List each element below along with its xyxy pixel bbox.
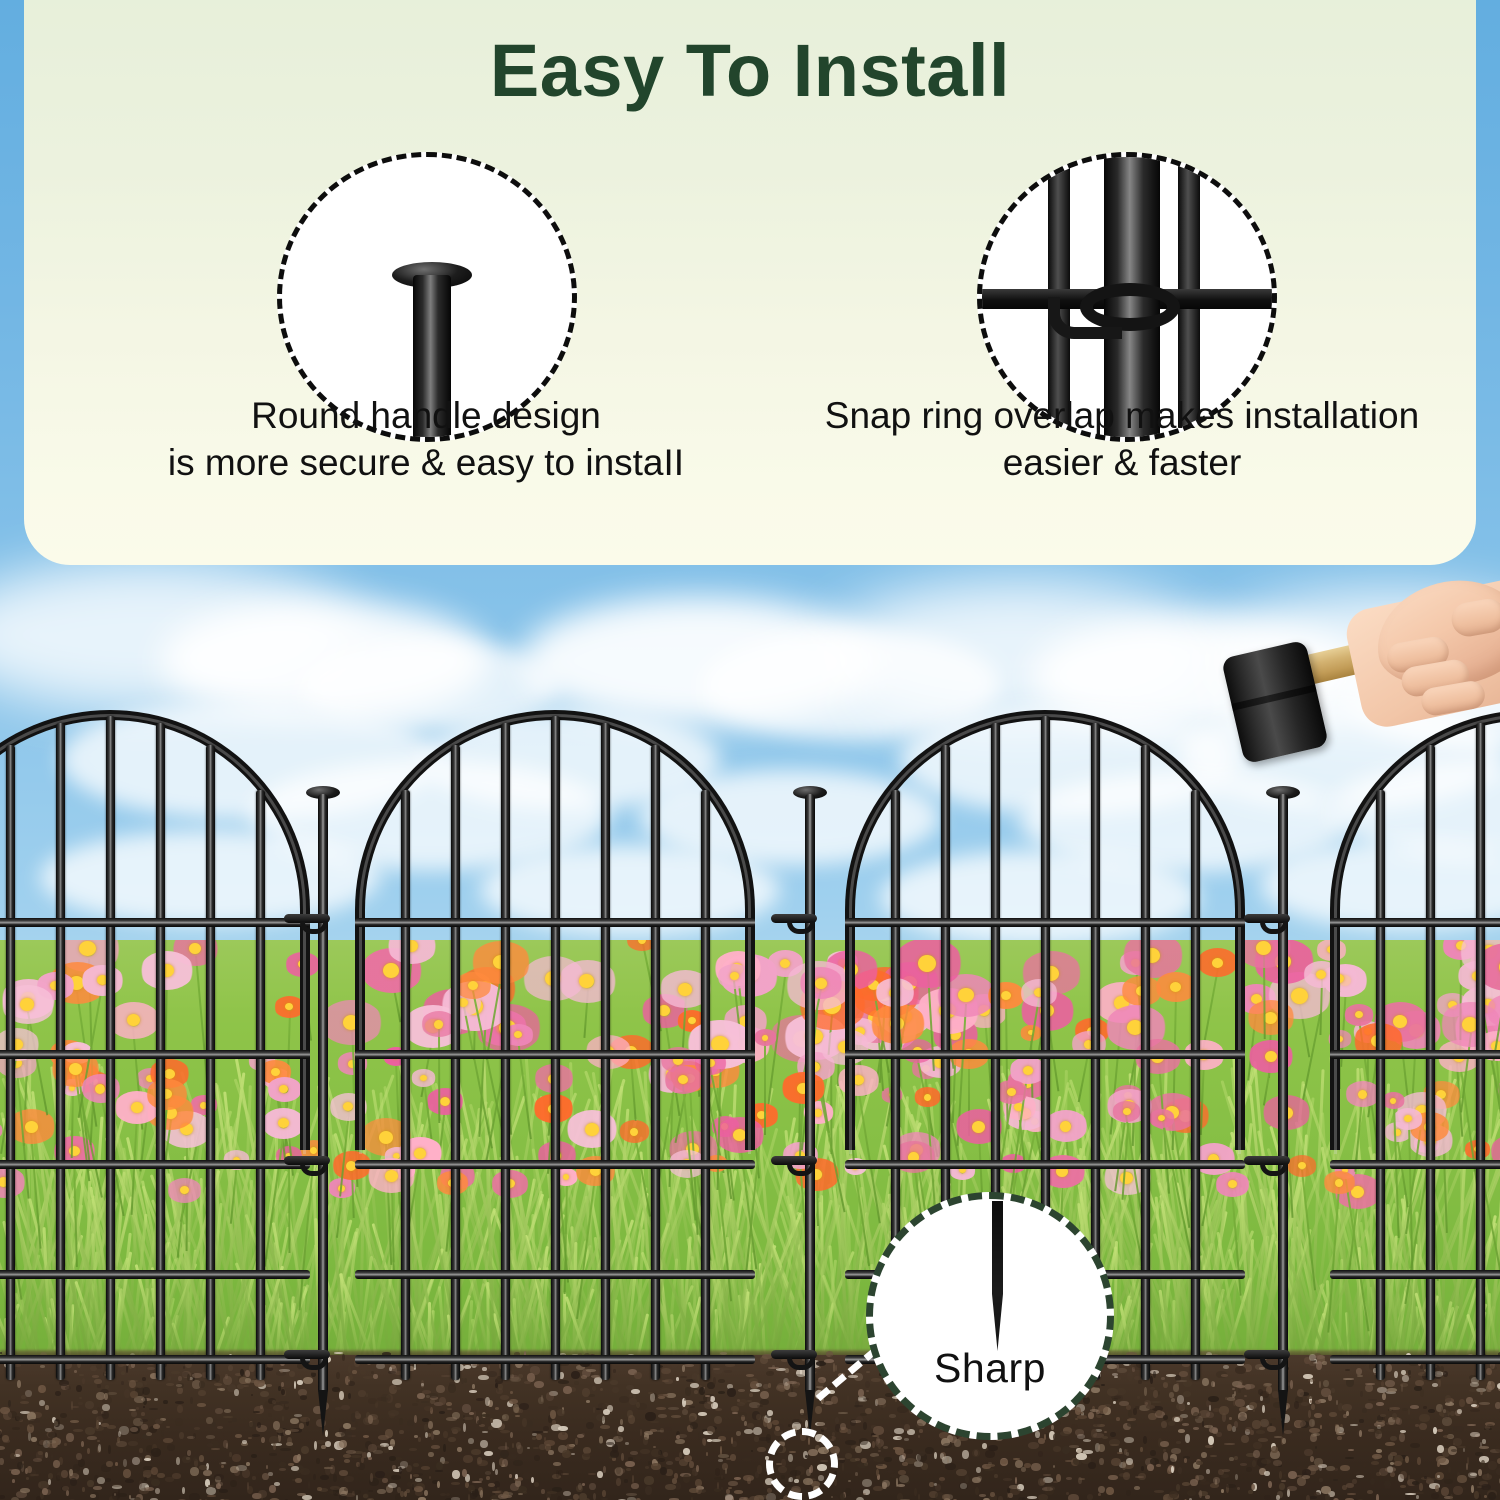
soil-crumb xyxy=(64,1443,67,1446)
garden-fence xyxy=(0,690,1500,1390)
soil-crumb xyxy=(718,1459,723,1462)
soil-crumb xyxy=(1261,1459,1271,1464)
soil-crumb xyxy=(268,1413,272,1417)
soil-crumb xyxy=(1015,1477,1017,1484)
soil-crumb xyxy=(207,1443,213,1447)
soil-crumb xyxy=(413,1474,419,1477)
soil-crumb xyxy=(163,1400,168,1404)
soil-crumb xyxy=(698,1489,706,1493)
soil-crumb xyxy=(640,1449,650,1454)
soil-crumb xyxy=(279,1401,289,1404)
soil-crumb xyxy=(1071,1439,1075,1444)
soil-crumb xyxy=(112,1492,120,1500)
soil-crumb xyxy=(199,1465,207,1470)
soil-crumb xyxy=(1235,1474,1238,1480)
soil-crumb xyxy=(929,1482,934,1487)
soil-crumb xyxy=(451,1427,461,1432)
soil-crumb xyxy=(1484,1495,1487,1498)
soil-crumb xyxy=(439,1397,446,1405)
fence-panel xyxy=(0,690,310,1380)
soil-crumb xyxy=(391,1475,401,1480)
soil-crumb xyxy=(1307,1396,1313,1399)
soil-crumb xyxy=(70,1478,77,1486)
soil-crumb xyxy=(1017,1489,1021,1491)
soil-crumb xyxy=(115,1462,118,1466)
soil-crumb xyxy=(1347,1493,1356,1495)
soil-crumb xyxy=(624,1479,628,1483)
soil-crumb xyxy=(1133,1408,1137,1415)
soil-crumb xyxy=(902,1462,908,1466)
soil-crumb xyxy=(1098,1405,1108,1414)
soil-crumb xyxy=(341,1431,352,1439)
soil-crumb xyxy=(1190,1479,1198,1486)
fence-horizontal-rail xyxy=(0,1160,310,1169)
soil-crumb xyxy=(485,1471,491,1475)
soil-crumb xyxy=(1116,1417,1120,1421)
soil-crumb xyxy=(395,1403,401,1408)
soil-crumb xyxy=(658,1396,665,1399)
soil-crumb xyxy=(1051,1425,1054,1430)
soil-crumb xyxy=(1302,1475,1310,1479)
soil-crumb xyxy=(596,1414,606,1421)
soil-crumb xyxy=(541,1489,545,1494)
soil-crumb xyxy=(855,1472,858,1476)
soil-crumb xyxy=(206,1435,215,1439)
soil-crumb xyxy=(246,1462,250,1466)
soil-crumb xyxy=(658,1458,665,1462)
soil-crumb xyxy=(690,1406,695,1408)
fence-panel xyxy=(1330,690,1500,1380)
soil-crumb xyxy=(1227,1424,1232,1431)
soil-crumb xyxy=(606,1442,614,1445)
buried-tip-marker-icon xyxy=(766,1428,838,1500)
soil-crumb xyxy=(211,1448,220,1450)
soil-crumb xyxy=(1459,1399,1465,1407)
soil-crumb xyxy=(282,1416,284,1421)
soil-crumb xyxy=(1202,1421,1204,1427)
soil-crumb xyxy=(163,1438,173,1443)
soil-crumb xyxy=(350,1427,356,1430)
soil-crumb xyxy=(451,1482,460,1485)
soil-crumb xyxy=(757,1447,766,1452)
soil-crumb xyxy=(1158,1391,1160,1395)
soil-crumb xyxy=(536,1434,542,1440)
soil-crumb xyxy=(863,1422,867,1430)
soil-crumb xyxy=(1258,1438,1268,1442)
soil-crumb xyxy=(631,1483,639,1489)
soil-crumb xyxy=(503,1491,509,1498)
soil-crumb xyxy=(1035,1431,1040,1438)
soil-crumb xyxy=(1442,1417,1452,1426)
soil-crumb xyxy=(593,1493,596,1500)
soil-crumb xyxy=(1182,1482,1190,1486)
soil-crumb xyxy=(129,1409,136,1411)
soil-crumb xyxy=(1227,1397,1235,1401)
soil-crumb xyxy=(251,1454,257,1458)
soil-crumb xyxy=(107,1392,117,1395)
soil-crumb xyxy=(835,1417,839,1424)
soil-crumb xyxy=(319,1488,328,1492)
soil-crumb xyxy=(273,1405,283,1411)
soil-crumb xyxy=(1176,1441,1181,1444)
soil-crumb xyxy=(179,1432,184,1439)
soil-crumb xyxy=(1205,1445,1213,1448)
soil-crumb xyxy=(737,1399,740,1402)
soil-crumb xyxy=(457,1447,462,1452)
soil-crumb xyxy=(677,1434,687,1438)
soil-crumb xyxy=(345,1493,355,1497)
soil-crumb xyxy=(547,1491,557,1494)
soil-crumb xyxy=(261,1492,263,1500)
soil-crumb xyxy=(656,1430,664,1432)
soil-crumb xyxy=(845,1453,852,1459)
soil-crumb xyxy=(1482,1439,1486,1444)
soil-crumb xyxy=(644,1431,653,1435)
soil-crumb xyxy=(1390,1407,1400,1410)
soil-crumb xyxy=(102,1404,110,1411)
soil-crumb xyxy=(71,1406,79,1408)
soil-crumb xyxy=(368,1490,373,1492)
soil-crumb xyxy=(666,1461,673,1465)
soil-crumb xyxy=(1143,1436,1147,1444)
fence-horizontal-rail xyxy=(1330,1355,1500,1364)
soil-crumb xyxy=(1474,1491,1479,1499)
soil-crumb xyxy=(976,1467,981,1473)
soil-crumb xyxy=(55,1391,61,1396)
caption-line-2: easier & faster xyxy=(742,439,1476,486)
soil-crumb xyxy=(1448,1466,1451,1473)
soil-crumb xyxy=(532,1431,543,1433)
soil-crumb xyxy=(598,1403,606,1410)
snap-ring-clip xyxy=(284,1154,330,1176)
soil-crumb xyxy=(1248,1490,1253,1494)
soil-crumb xyxy=(10,1453,16,1459)
soil-crumb xyxy=(721,1475,723,1479)
soil-crumb xyxy=(534,1482,539,1487)
soil-crumb xyxy=(702,1438,706,1445)
soil-crumb xyxy=(648,1461,651,1465)
soil-crumb xyxy=(42,1488,48,1495)
soil-crumb xyxy=(935,1484,941,1491)
soil-crumb xyxy=(562,1450,571,1458)
soil-crumb xyxy=(1495,1445,1500,1452)
soil-crumb xyxy=(1457,1475,1467,1483)
soil-crumb xyxy=(97,1477,105,1484)
soil-crumb xyxy=(125,1479,134,1483)
soil-crumb xyxy=(822,1400,826,1403)
fence-horizontal-rail xyxy=(0,1270,310,1279)
soil-crumb xyxy=(433,1430,440,1435)
soil-crumb xyxy=(368,1457,372,1460)
soil-crumb xyxy=(679,1459,688,1466)
soil-crumb xyxy=(707,1426,715,1434)
soil-crumb xyxy=(1427,1478,1436,1480)
soil-crumb xyxy=(358,1390,366,1397)
soil-crumb xyxy=(1400,1471,1407,1479)
soil-crumb xyxy=(1053,1465,1055,1468)
soil-crumb xyxy=(194,1427,200,1430)
soil-crumb xyxy=(556,1470,559,1478)
fence-vertical-bar xyxy=(256,790,265,1380)
soil-crumb xyxy=(1437,1445,1444,1453)
soil-crumb xyxy=(862,1479,872,1487)
soil-crumb xyxy=(1487,1424,1493,1427)
soil-crumb xyxy=(718,1391,725,1394)
soil-crumb xyxy=(914,1488,917,1496)
soil-crumb xyxy=(1245,1427,1252,1432)
soil-crumb xyxy=(644,1476,654,1485)
soil-crumb xyxy=(153,1424,160,1429)
soil-crumb xyxy=(1394,1461,1402,1466)
soil-crumb xyxy=(1163,1415,1168,1420)
soil-crumb xyxy=(339,1391,344,1400)
soil-crumb xyxy=(625,1442,629,1445)
soil-crumb xyxy=(388,1410,399,1416)
soil-crumb xyxy=(440,1493,446,1496)
soil-crumb xyxy=(20,1401,29,1404)
soil-crumb xyxy=(1374,1422,1385,1427)
soil-crumb xyxy=(1187,1402,1190,1405)
soil-crumb xyxy=(1279,1471,1282,1479)
soil-crumb xyxy=(919,1429,923,1433)
soil-crumb xyxy=(28,1430,32,1433)
soil-crumb xyxy=(370,1473,373,1482)
soil-crumb xyxy=(1311,1404,1315,1410)
soil-crumb xyxy=(218,1482,223,1486)
soil-crumb xyxy=(832,1432,835,1436)
soil-crumb xyxy=(1253,1409,1255,1412)
soil-crumb xyxy=(151,1479,160,1486)
soil-crumb xyxy=(215,1408,223,1414)
soil-crumb xyxy=(552,1420,556,1425)
stake-tip xyxy=(318,1390,328,1436)
soil-crumb xyxy=(252,1434,260,1437)
fence-horizontal-rail xyxy=(845,1160,1245,1169)
feature-banner: Easy To Install Round handle design is m… xyxy=(24,0,1476,565)
soil-crumb xyxy=(60,1413,67,1418)
soil-crumb xyxy=(1113,1401,1116,1404)
soil-crumb xyxy=(668,1407,679,1410)
soil-crumb xyxy=(1108,1475,1118,1480)
soil-crumb xyxy=(873,1456,884,1462)
soil-crumb xyxy=(757,1405,763,1407)
soil-crumb xyxy=(691,1471,695,1477)
soil-crumb xyxy=(760,1391,769,1399)
soil-crumb xyxy=(1151,1401,1161,1403)
soil-crumb xyxy=(840,1423,846,1430)
soil-crumb xyxy=(832,1496,839,1500)
soil-crumb xyxy=(242,1440,247,1444)
soil-crumb xyxy=(0,1458,4,1465)
soil-crumb xyxy=(918,1494,920,1500)
soil-crumb xyxy=(161,1430,164,1437)
soil-crumb xyxy=(1237,1487,1240,1490)
soil-crumb xyxy=(325,1466,331,1475)
soil-crumb xyxy=(294,1414,302,1417)
soil-crumb xyxy=(355,1421,358,1427)
soil-crumb xyxy=(217,1426,223,1429)
soil-crumb xyxy=(1128,1410,1132,1417)
soil-crumb xyxy=(388,1483,397,1488)
soil-crumb xyxy=(400,1461,408,1468)
soil-crumb xyxy=(548,1406,558,1409)
soil-crumb xyxy=(1168,1421,1175,1426)
soil-crumb xyxy=(621,1453,624,1461)
soil-crumb xyxy=(308,1481,310,1489)
soil-crumb xyxy=(477,1420,482,1425)
soil-crumb xyxy=(1399,1433,1405,1442)
soil-crumb xyxy=(290,1418,299,1424)
soil-crumb xyxy=(273,1443,276,1450)
soil-crumb xyxy=(720,1446,722,1455)
soil-crumb xyxy=(1412,1481,1419,1485)
soil-crumb xyxy=(228,1421,232,1423)
soil-crumb xyxy=(614,1468,625,1474)
soil-crumb xyxy=(235,1434,242,1438)
soil-crumb xyxy=(842,1463,844,1471)
soil-crumb xyxy=(763,1418,768,1427)
soil-crumb xyxy=(1066,1477,1072,1480)
soil-crumb xyxy=(469,1412,474,1415)
soil-crumb xyxy=(510,1483,519,1491)
soil-crumb xyxy=(1260,1396,1263,1401)
soil-crumb xyxy=(118,1431,121,1437)
soil-crumb xyxy=(759,1437,770,1441)
soil-crumb xyxy=(742,1458,752,1461)
soil-crumb xyxy=(116,1441,127,1447)
fence-vertical-bar xyxy=(451,745,460,1380)
soil-crumb xyxy=(1239,1416,1246,1422)
soil-crumb xyxy=(743,1475,754,1481)
soil-crumb xyxy=(516,1442,521,1449)
mallet-head-band xyxy=(1231,685,1316,711)
soil-crumb xyxy=(510,1391,513,1394)
soil-crumb xyxy=(27,1466,32,1473)
soil-crumb xyxy=(1376,1402,1384,1406)
soil-crumb xyxy=(626,1493,637,1496)
soil-crumb xyxy=(1471,1404,1477,1407)
soil-crumb xyxy=(626,1468,631,1471)
soil-crumb xyxy=(1140,1447,1143,1452)
fence-horizontal-rail xyxy=(355,1355,755,1364)
soil-crumb xyxy=(495,1469,498,1475)
soil-crumb xyxy=(300,1468,310,1475)
soil-crumb xyxy=(428,1421,433,1429)
soil-crumb xyxy=(1482,1474,1492,1480)
soil-crumb xyxy=(1176,1484,1180,1491)
soil-crumb xyxy=(1199,1490,1202,1498)
soil-crumb xyxy=(558,1426,568,1431)
soil-crumb xyxy=(1027,1496,1037,1499)
soil-crumb xyxy=(472,1481,482,1483)
soil-crumb xyxy=(414,1415,417,1423)
soil-crumb xyxy=(698,1412,707,1416)
soil-crumb xyxy=(343,1423,351,1429)
soil-crumb xyxy=(675,1439,685,1444)
soil-crumb xyxy=(1453,1438,1462,1446)
fence-vertical-bar xyxy=(206,745,215,1380)
soil-crumb xyxy=(1184,1458,1187,1463)
fence-horizontal-rail xyxy=(845,918,1245,927)
soil-crumb xyxy=(527,1447,530,1449)
soil-crumb xyxy=(845,1440,856,1445)
soil-crumb xyxy=(1329,1412,1337,1417)
soil-crumb xyxy=(443,1444,446,1452)
soil-crumb xyxy=(1273,1460,1282,1466)
soil-crumb xyxy=(1154,1490,1164,1493)
soil-crumb xyxy=(1363,1463,1366,1468)
snap-ring-clip xyxy=(771,1154,817,1176)
soil-crumb xyxy=(1193,1427,1199,1430)
soil-crumb xyxy=(628,1415,635,1424)
soil-crumb xyxy=(865,1408,872,1414)
soil-crumb xyxy=(1038,1451,1043,1457)
soil-crumb xyxy=(260,1391,269,1397)
soil-crumb xyxy=(632,1475,634,1483)
soil-crumb xyxy=(253,1411,260,1413)
soil-crumb xyxy=(389,1456,396,1461)
soil-crumb xyxy=(854,1405,863,1407)
soil-crumb xyxy=(1040,1479,1045,1485)
soil-crumb xyxy=(1376,1494,1379,1500)
soil-crumb xyxy=(934,1452,937,1459)
soil-crumb xyxy=(855,1458,860,1461)
soil-crumb xyxy=(257,1422,261,1428)
soil-crumb xyxy=(480,1440,488,1448)
fence-horizontal-rail xyxy=(0,918,310,927)
soil-crumb xyxy=(876,1469,879,1476)
soil-crumb xyxy=(186,1450,191,1457)
soil-crumb xyxy=(1009,1485,1019,1489)
soil-crumb xyxy=(62,1486,69,1491)
soil-crumb xyxy=(960,1483,967,1489)
soil-crumb xyxy=(448,1437,456,1442)
soil-crumb xyxy=(102,1411,109,1419)
soil-crumb xyxy=(1314,1492,1320,1496)
snap-ring-clip xyxy=(284,1348,330,1370)
soil-crumb xyxy=(905,1449,913,1454)
soil-crumb xyxy=(471,1449,481,1455)
fence-horizontal-rail xyxy=(1330,1050,1500,1059)
soil-crumb xyxy=(772,1420,779,1425)
soil-crumb xyxy=(731,1406,739,1412)
soil-crumb xyxy=(248,1422,256,1428)
soil-crumb xyxy=(1251,1484,1255,1490)
fence-vertical-bar xyxy=(551,716,560,1380)
soil-crumb xyxy=(175,1401,184,1404)
soil-crumb xyxy=(579,1493,587,1500)
soil-crumb xyxy=(749,1393,753,1397)
soil-crumb xyxy=(1213,1477,1220,1484)
soil-crumb xyxy=(144,1458,151,1461)
soil-crumb xyxy=(1279,1483,1285,1490)
soil-crumb xyxy=(1283,1474,1286,1477)
soil-crumb xyxy=(320,1475,329,1480)
soil-crumb xyxy=(25,1390,32,1397)
soil-crumb xyxy=(1088,1462,1096,1469)
soil-crumb xyxy=(1270,1423,1272,1426)
soil-crumb xyxy=(16,1413,23,1421)
soil-crumb xyxy=(1437,1461,1440,1467)
soil-crumb xyxy=(856,1416,863,1423)
soil-crumb xyxy=(219,1489,228,1493)
soil-crumb xyxy=(1481,1460,1485,1467)
soil-crumb xyxy=(705,1395,710,1397)
soil-crumb xyxy=(550,1410,556,1419)
soil-crumb xyxy=(747,1423,754,1428)
soil-crumb xyxy=(1234,1391,1236,1396)
soil-crumb xyxy=(897,1484,905,1487)
